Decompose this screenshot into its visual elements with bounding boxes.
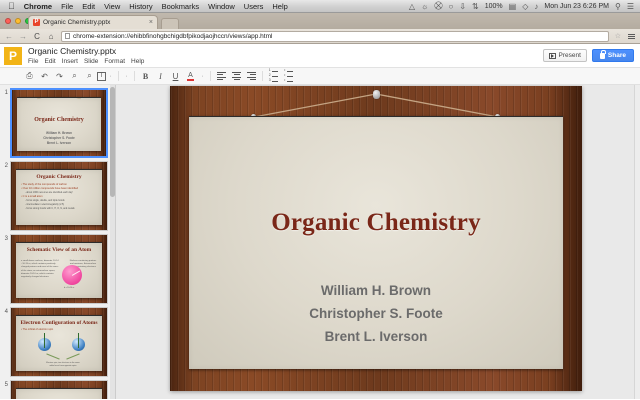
browser-tab-strip: P Organic Chemistry.pptx × bbox=[0, 13, 640, 29]
browser-tab-title: Organic Chemistry.pptx bbox=[43, 19, 146, 26]
slide-canvas: Organic Chemistry The study of the compo… bbox=[16, 169, 102, 225]
os-status-area: △ ☼ ⛒ ○ ⇩ ⇅ 100% ▤ ◇ ♪ Mon Jun 23 6:26 P… bbox=[409, 1, 640, 11]
thumb-formula: d = 10-10 m bbox=[64, 287, 74, 290]
filmstrip-scroll-thumb[interactable] bbox=[110, 87, 115, 197]
browser-tab[interactable]: P Organic Chemistry.pptx × bbox=[28, 15, 158, 29]
powerpoint-favicon: P bbox=[33, 19, 40, 26]
bulleted-list-icon[interactable]: ••• bbox=[281, 69, 296, 84]
zoom-in-icon[interactable]: ⌕ bbox=[67, 69, 82, 84]
toolbar-divider-3 bbox=[210, 71, 211, 81]
app-menu-slide[interactable]: Slide bbox=[84, 58, 98, 65]
app-menu-help[interactable]: Help bbox=[131, 58, 144, 65]
redo-icon[interactable]: ↷ bbox=[52, 69, 67, 84]
wifi-icon[interactable]: ◇ bbox=[522, 2, 528, 11]
spin-arrow-icon bbox=[44, 333, 45, 348]
slide-authors[interactable]: William H. Brown Christopher S. Foote Br… bbox=[189, 279, 563, 348]
thumb-note: Electron spin; two electrons in the same… bbox=[44, 362, 82, 368]
stage-scrollbar[interactable] bbox=[634, 85, 640, 399]
thumb-title: Schematic View of an Atom bbox=[16, 247, 102, 253]
toolbar-divider-4 bbox=[262, 71, 263, 81]
title-block: Organic Chemistry.pptx File Edit Insert … bbox=[28, 46, 144, 65]
back-icon[interactable]: ← bbox=[5, 32, 13, 41]
reload-icon[interactable]: C bbox=[33, 32, 41, 41]
slide-thumbnail-row[interactable]: 4 Electron Configuration of Atoms The or… bbox=[0, 304, 115, 377]
wood-frame: Electron Configuration of Atoms The orbi… bbox=[11, 308, 107, 376]
list-icon[interactable]: ☰ bbox=[627, 2, 634, 11]
slide-number: 4 bbox=[2, 307, 10, 315]
text-color-letter: A bbox=[188, 72, 193, 79]
os-menu-window[interactable]: Window bbox=[208, 2, 235, 11]
header-actions: Present Share bbox=[543, 49, 634, 62]
clock-icon[interactable]: ○ bbox=[449, 2, 454, 11]
color-dropdown-arrow[interactable]: · bbox=[198, 73, 207, 80]
toolbar-overflow-left[interactable]: · bbox=[106, 73, 115, 80]
thumb-author-3: Brent L. Iverson bbox=[17, 141, 101, 146]
forward-icon[interactable]: → bbox=[19, 32, 27, 41]
numbered-list-icon[interactable]: 123 bbox=[266, 69, 281, 84]
os-menu-view[interactable]: View bbox=[104, 2, 120, 11]
editor-workspace: 1 Organic Chemistry William H. Brown Chr… bbox=[0, 85, 640, 399]
document-title[interactable]: Organic Chemistry.pptx bbox=[28, 46, 144, 57]
new-tab-button[interactable] bbox=[161, 18, 179, 29]
toolbar-overflow-mid[interactable]: · bbox=[122, 73, 131, 80]
thumb-title: Organic Chemistry bbox=[17, 117, 101, 123]
slide-number: 5 bbox=[2, 380, 10, 388]
hook-nail-icon bbox=[373, 90, 380, 99]
app-menu-bar: File Edit Insert Slide Format Help bbox=[28, 58, 144, 65]
os-menu-bookmarks[interactable]: Bookmarks bbox=[162, 2, 200, 11]
current-slide[interactable]: Organic Chemistry William H. Brown Chris… bbox=[170, 86, 582, 391]
wood-frame: Organic Chemistry The study of the compo… bbox=[11, 162, 107, 230]
os-menu-history[interactable]: History bbox=[129, 2, 152, 11]
wood-frame: Organic Chemistry William H. Brown Chris… bbox=[12, 90, 106, 156]
present-button-label: Present bbox=[559, 52, 581, 59]
slide-canvas: Schematic View of an Atom a small dense … bbox=[16, 242, 102, 298]
thumb-bullets: The study of the compounds of carbon Ove… bbox=[21, 183, 98, 211]
minimize-button[interactable] bbox=[15, 18, 21, 24]
underline-button[interactable]: U bbox=[168, 69, 183, 84]
spin-arrow-icon bbox=[78, 333, 79, 348]
address-bar-url: chrome-extension://ehibbfinohgbchigdbfpi… bbox=[73, 33, 272, 40]
slide-thumbnail-5[interactable] bbox=[10, 380, 108, 399]
os-menu-items:  Chrome File Edit View History Bookmark… bbox=[0, 2, 288, 11]
bold-button[interactable]: B bbox=[138, 69, 153, 84]
slide-thumbnail-1[interactable]: Organic Chemistry William H. Brown Chris… bbox=[10, 88, 108, 158]
os-menu-help[interactable]: Help bbox=[272, 2, 287, 11]
slide-canvas[interactable]: Organic Chemistry William H. Brown Chris… bbox=[189, 116, 563, 369]
close-button[interactable] bbox=[5, 18, 11, 24]
thumb-bullet: forms strong bonds with C, H, O, N, and … bbox=[21, 207, 98, 211]
wood-frame: Schematic View of an Atom a small dense … bbox=[11, 235, 107, 303]
no-entry-icon[interactable]: ⛒ bbox=[434, 1, 442, 11]
address-bar[interactable]: chrome-extension://ehibbfinohgbchigdbfpi… bbox=[61, 31, 609, 42]
slide-filmstrip[interactable]: 1 Organic Chemistry William H. Brown Chr… bbox=[0, 85, 116, 399]
editor-toolbar: ⎙ ↶ ↷ ⌕ ⌕ T · · B I U A · 123 ••• bbox=[0, 68, 640, 85]
bluetooth-icon[interactable]: ⇅ bbox=[472, 2, 479, 11]
slide-canvas bbox=[16, 388, 102, 399]
slide-author-1: William H. Brown bbox=[189, 279, 563, 302]
os-menu-chrome[interactable]: Chrome bbox=[24, 2, 52, 11]
battery-percent: 100% bbox=[485, 3, 503, 10]
textbox-icon[interactable]: T bbox=[97, 72, 106, 81]
os-menu-bar:  Chrome File Edit View History Bookmark… bbox=[0, 0, 640, 13]
slide-thumbnail-3[interactable]: Schematic View of an Atom a small dense … bbox=[10, 234, 108, 304]
hamburger-icon[interactable] bbox=[627, 34, 635, 39]
undo-icon[interactable]: ↶ bbox=[37, 69, 52, 84]
slide-canvas: Organic Chemistry William H. Brown Chris… bbox=[17, 97, 101, 151]
slide-number: 3 bbox=[2, 234, 10, 242]
zoom-out-icon[interactable]: ⌕ bbox=[82, 69, 97, 84]
slide-number: 1 bbox=[2, 88, 10, 96]
lock-icon bbox=[600, 53, 605, 59]
app-header: P Organic Chemistry.pptx File Edit Inser… bbox=[0, 44, 640, 68]
play-icon bbox=[549, 53, 556, 59]
os-clock[interactable]: Mon Jun 23 6:26 PM bbox=[544, 3, 609, 10]
slide-thumbnail-row[interactable]: 5 bbox=[0, 377, 115, 399]
slide-title[interactable]: Organic Chemistry bbox=[189, 209, 563, 237]
apple-logo-icon[interactable]:  bbox=[8, 2, 15, 11]
app-menu-format[interactable]: Format bbox=[104, 58, 125, 65]
thumb-body-left: a small dense nucleus, diameter 10-14 - … bbox=[21, 260, 59, 279]
leader-line bbox=[46, 353, 59, 359]
browser-toolbar: ← → C ⌂ chrome-extension://ehibbfinohgbc… bbox=[0, 29, 640, 44]
align-right-icon[interactable] bbox=[244, 69, 259, 84]
slide-author-3: Brent L. Iverson bbox=[189, 325, 563, 348]
search-icon[interactable]: ⚲ bbox=[615, 2, 621, 11]
thumb-title: Electron Configuration of Atoms bbox=[16, 320, 102, 326]
slide-number: 2 bbox=[2, 161, 10, 169]
text-color-swatch bbox=[187, 79, 194, 81]
slide-stage[interactable]: Organic Chemistry William H. Brown Chris… bbox=[116, 85, 640, 399]
text-color-button[interactable]: A bbox=[183, 69, 198, 84]
atom-nucleus-icon bbox=[62, 265, 82, 285]
slide-thumbnail-4[interactable]: Electron Configuration of Atoms The orbi… bbox=[10, 307, 108, 377]
toolbar-divider-1 bbox=[118, 71, 119, 81]
slide-thumbnail-row[interactable]: 3 Schematic View of an Atom a small dens… bbox=[0, 231, 115, 304]
bookmark-star-icon[interactable]: ☆ bbox=[615, 32, 621, 40]
app-menu-file[interactable]: File bbox=[28, 58, 38, 65]
os-menu-file[interactable]: File bbox=[61, 2, 73, 11]
thumb-authors: William H. Brown Christopher S. Foote Br… bbox=[17, 131, 101, 147]
dropbox-icon[interactable]: △ bbox=[409, 2, 415, 11]
tab-close-icon[interactable]: × bbox=[149, 19, 153, 26]
filmstrip-scrollbar[interactable] bbox=[110, 85, 115, 399]
share-button-label: Share bbox=[608, 52, 626, 59]
slide-thumbnail-row[interactable]: 2 Organic Chemistry The study of the com… bbox=[0, 158, 115, 231]
app-logo-icon: P bbox=[4, 47, 22, 65]
slide-canvas: Electron Configuration of Atoms The orbi… bbox=[16, 315, 102, 371]
os-menu-edit[interactable]: Edit bbox=[82, 2, 95, 11]
slide-thumbnail-row[interactable]: 1 Organic Chemistry William H. Brown Chr… bbox=[0, 85, 115, 158]
toolbar-divider-2 bbox=[134, 71, 135, 81]
bell-icon[interactable]: ☼ bbox=[421, 2, 428, 11]
slide-author-2: Christopher S. Foote bbox=[189, 302, 563, 325]
share-button[interactable]: Share bbox=[592, 49, 634, 62]
thumb-subtitle: The orbital of electron spin bbox=[21, 328, 53, 331]
presentation-app: P Organic Chemistry.pptx File Edit Inser… bbox=[0, 44, 640, 400]
volume-icon[interactable]: ♪ bbox=[534, 2, 538, 11]
app-menu-insert[interactable]: Insert bbox=[62, 58, 78, 65]
italic-button[interactable]: I bbox=[153, 69, 168, 84]
print-icon[interactable]: ⎙ bbox=[22, 69, 37, 84]
wood-frame bbox=[11, 381, 107, 399]
thumb-title: Organic Chemistry bbox=[16, 174, 102, 180]
battery-icon[interactable]: ▤ bbox=[509, 2, 517, 11]
leader-line bbox=[66, 353, 79, 359]
slide-thumbnail-2[interactable]: Organic Chemistry The study of the compo… bbox=[10, 161, 108, 231]
home-icon[interactable]: ⌂ bbox=[47, 32, 55, 41]
sync-icon[interactable]: ⇩ bbox=[459, 2, 466, 11]
align-left-icon[interactable] bbox=[214, 69, 229, 84]
page-info-icon[interactable] bbox=[65, 33, 70, 39]
os-menu-users[interactable]: Users bbox=[244, 2, 264, 11]
app-menu-edit[interactable]: Edit bbox=[44, 58, 55, 65]
align-center-icon[interactable] bbox=[229, 69, 244, 84]
present-button[interactable]: Present bbox=[543, 49, 587, 62]
